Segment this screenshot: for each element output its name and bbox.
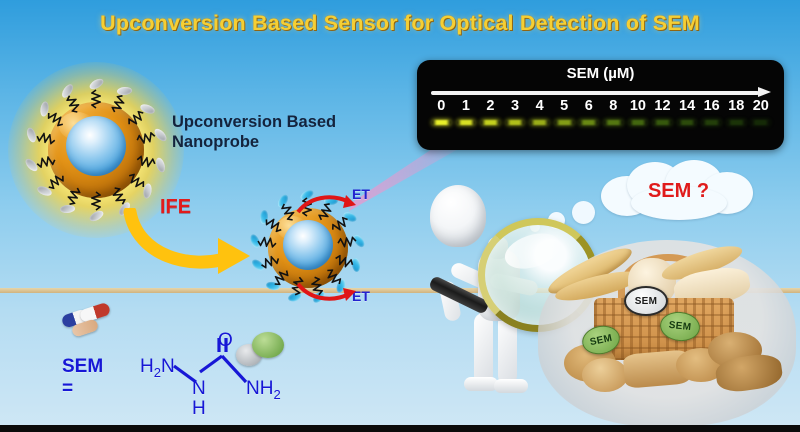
axis-tick-1: 1	[454, 98, 479, 115]
polymer-chain	[91, 87, 101, 109]
thought-bubble-icon: SEM ?	[601, 160, 756, 222]
sem-equals-label: SEM =	[62, 356, 103, 400]
bond-lines	[130, 326, 290, 416]
page-title: Upconversion Based Sensor for Optical De…	[0, 11, 800, 36]
axis-tick-12: 12	[650, 98, 675, 115]
axis-tick-18: 18	[724, 98, 749, 115]
luminescence-band	[478, 118, 503, 127]
axis-line	[431, 91, 759, 95]
axis-tick-10: 10	[626, 98, 651, 115]
axis-tick-0: 0	[429, 98, 454, 115]
ife-label: IFE	[160, 196, 191, 219]
axis-tick-20: 20	[749, 98, 774, 115]
luminescence-band	[552, 118, 577, 127]
right-arrow-icon	[758, 87, 771, 97]
axis-tick-4: 4	[527, 98, 552, 115]
bread-roll	[582, 358, 628, 392]
luminescence-band-row	[429, 118, 773, 127]
luminescence-band	[626, 118, 651, 127]
sem-panel-heading: SEM (µM)	[417, 65, 784, 82]
axis-tick-14: 14	[675, 98, 700, 115]
luminescence-band	[675, 118, 700, 127]
curved-red-arrow-icon	[296, 278, 360, 304]
concentration-axis	[431, 89, 771, 96]
curved-red-arrow-icon	[296, 192, 360, 218]
polymer-chain	[91, 191, 101, 213]
axis-tick-labels: 01234568101214161820	[429, 98, 773, 115]
axis-tick-6: 6	[576, 98, 601, 115]
sem-badge: SEM	[624, 286, 668, 316]
axis-tick-3: 3	[503, 98, 528, 115]
luminescence-band	[699, 118, 724, 127]
nanoparticle-core	[283, 220, 333, 270]
question-label: SEM ?	[601, 180, 756, 203]
nanoparticle-core	[66, 116, 126, 176]
luminescence-band	[527, 118, 552, 127]
left-foot	[464, 377, 498, 391]
left-leg	[474, 313, 493, 385]
nanoprobe-caption: Upconversion Based Nanoprobe	[172, 112, 336, 152]
graphical-abstract-canvas: Upconversion Based Sensor for Optical De…	[0, 0, 800, 432]
luminescence-band	[429, 118, 454, 127]
luminescence-band	[576, 118, 601, 127]
luminescence-band	[650, 118, 675, 127]
sem-concentration-panel: SEM (µM) 01234568101214161820	[417, 60, 784, 150]
axis-tick-16: 16	[699, 98, 724, 115]
bread-basket-icon: SEM SEM SEM	[520, 236, 800, 426]
luminescence-band	[749, 118, 774, 127]
axis-tick-5: 5	[552, 98, 577, 115]
luminescence-band	[724, 118, 749, 127]
nanoprobe-caption-line1: Upconversion Based	[172, 113, 336, 131]
axis-tick-2: 2	[478, 98, 503, 115]
bottom-border	[0, 425, 800, 432]
nanoprobe-caption-line2: Nanoprobe	[172, 133, 259, 151]
luminescence-band	[454, 118, 479, 127]
polymer-chain	[336, 236, 359, 249]
axis-tick-8: 8	[601, 98, 626, 115]
luminescence-band	[503, 118, 528, 127]
luminescence-band	[601, 118, 626, 127]
